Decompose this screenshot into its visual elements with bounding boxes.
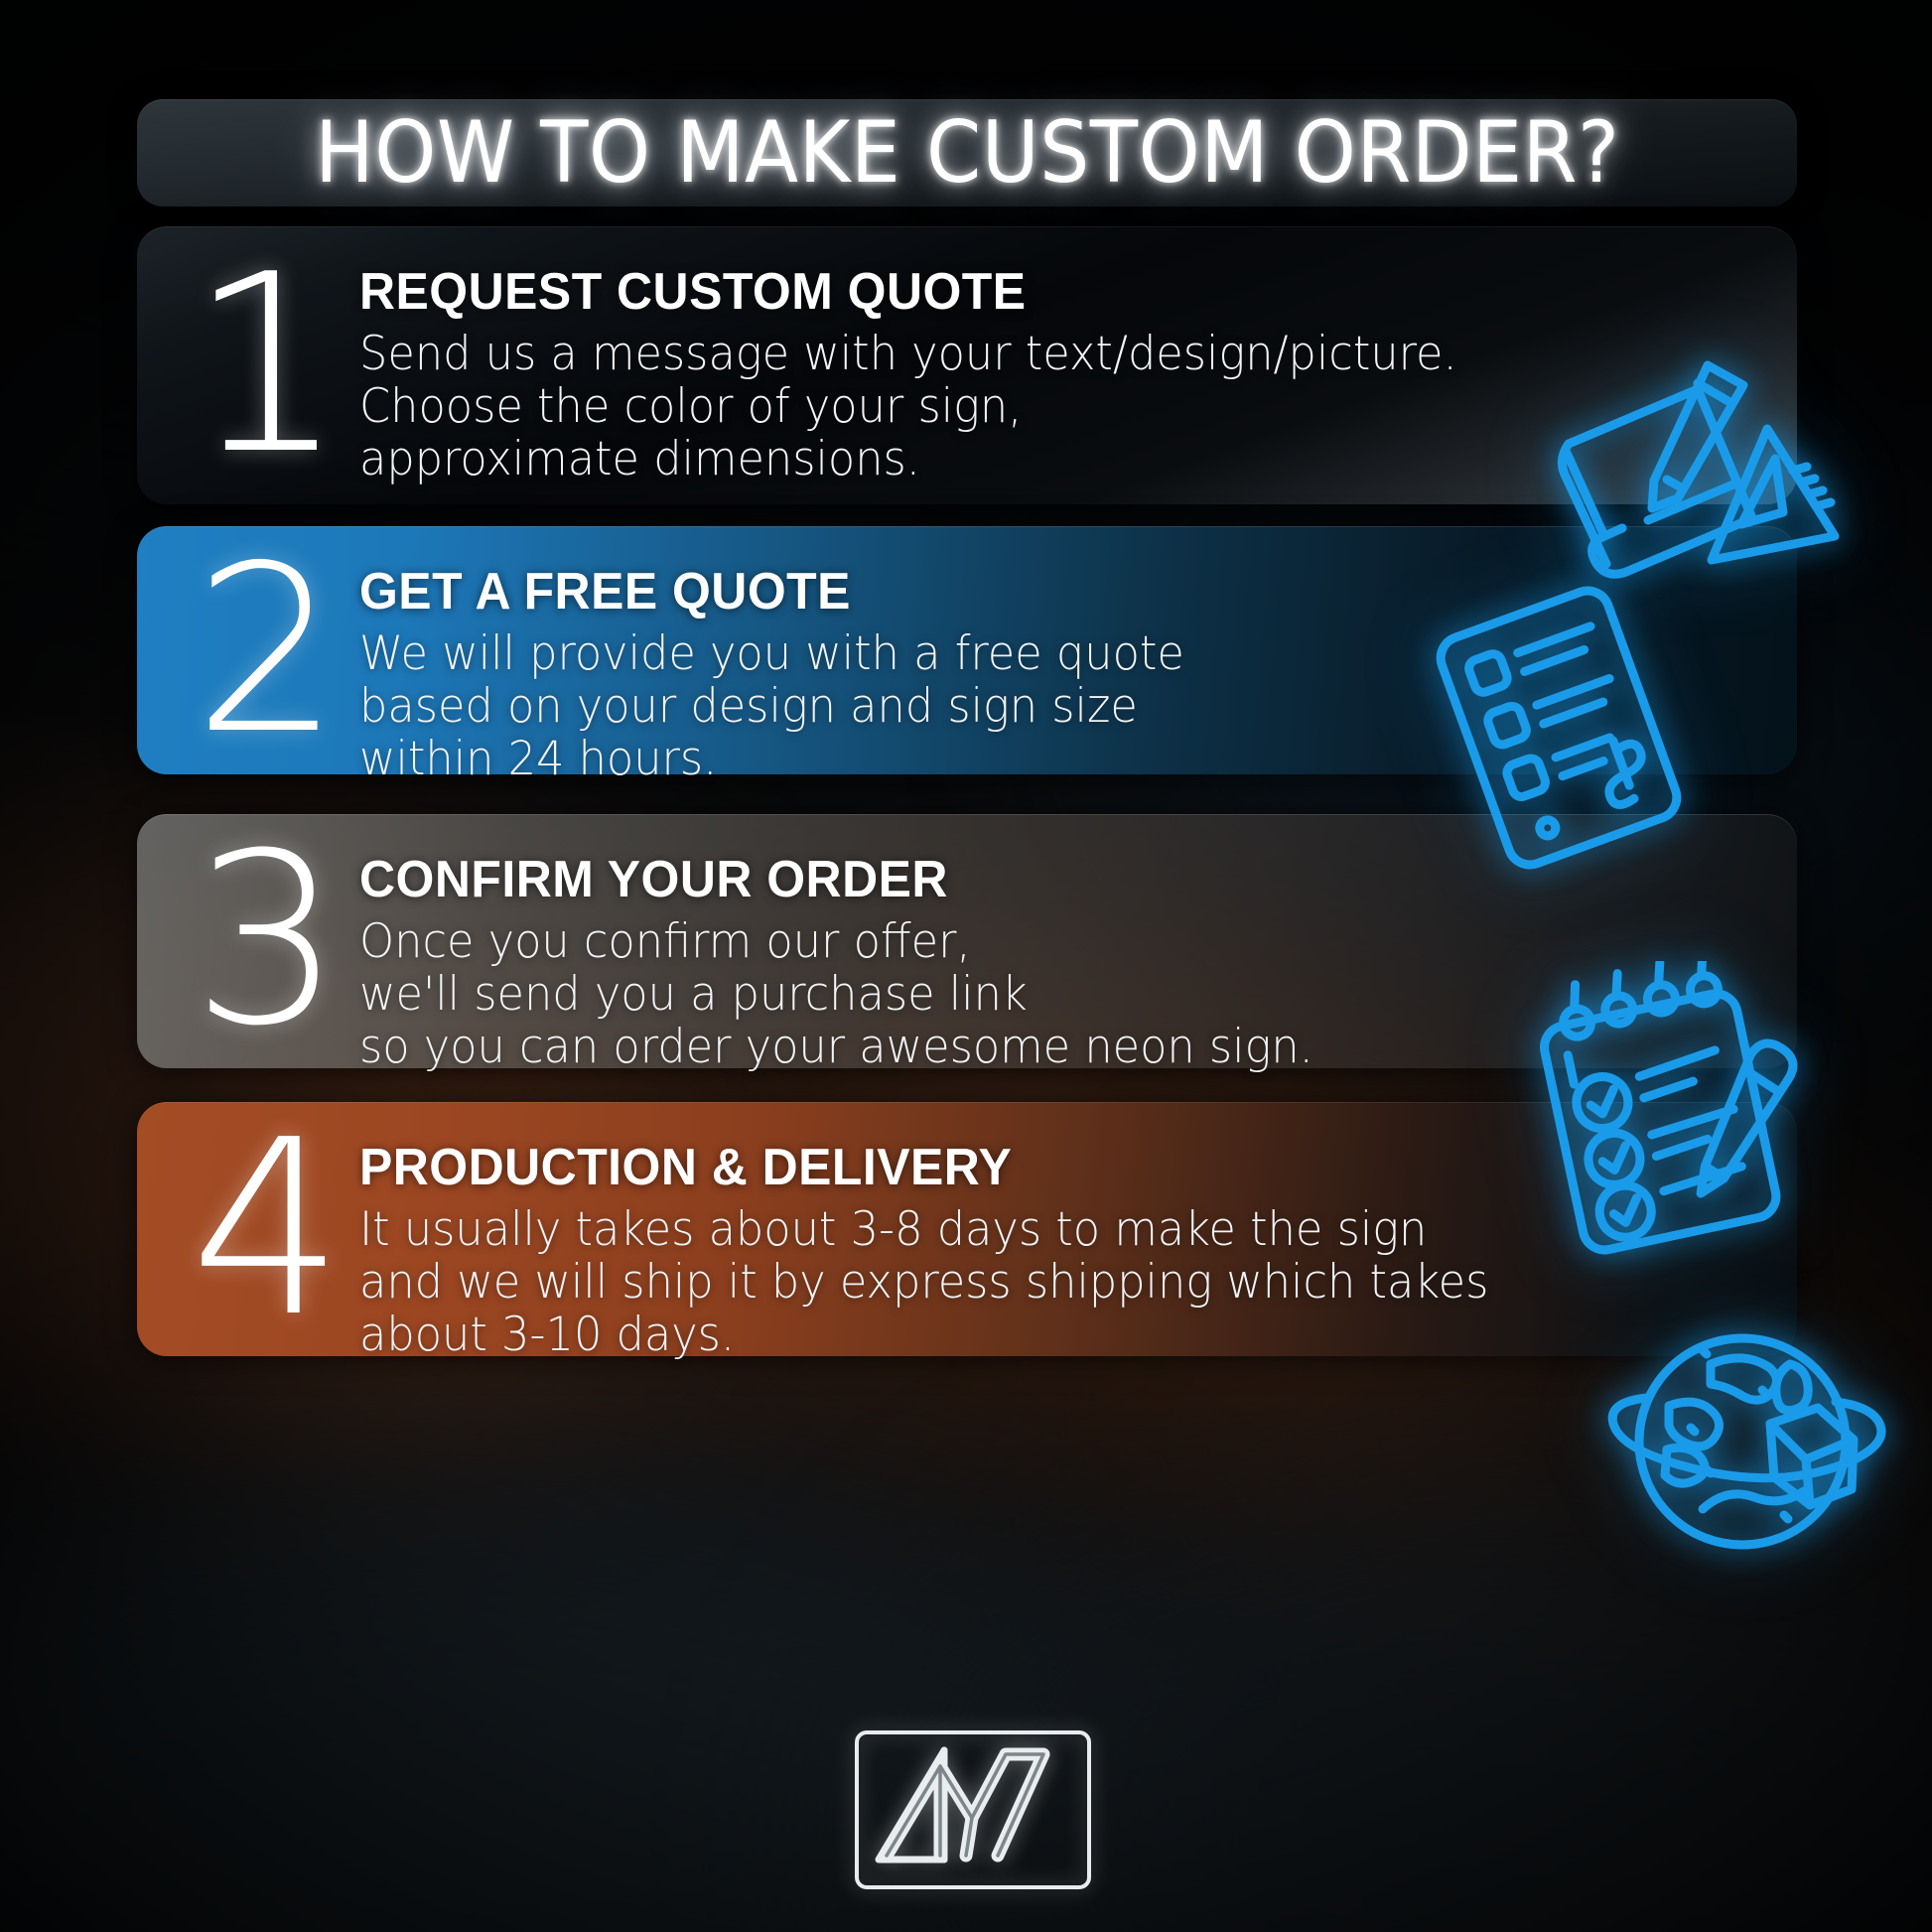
step-description-3: Once you confirm our offer, we'll send y… (359, 915, 1688, 1073)
blueprint-pencil-ruler-icon (1549, 349, 1847, 598)
step-number-4: 4 (171, 1124, 359, 1334)
page-title: HOW TO MAKE CUSTOM ORDER? (315, 103, 1619, 203)
quote-document-dollar-icon (1415, 584, 1703, 872)
step-title-4: PRODUCTION & DELIVERY (359, 1138, 1702, 1197)
infographic-canvas: HOW TO MAKE CUSTOM ORDER? 1 REQUEST CUST… (0, 0, 1932, 1932)
step-number-3: 3 (171, 836, 359, 1046)
step-title-1: REQUEST CUSTOM QUOTE (359, 262, 1702, 322)
neon-w-logo (849, 1721, 1097, 1899)
checklist-notepad-pencil-icon (1524, 961, 1822, 1259)
step-description-1: Send us a message with your text/design/… (359, 328, 1688, 485)
header-bar: HOW TO MAKE CUSTOM ORDER? (137, 99, 1797, 207)
step-description-4: It usually takes about 3-8 days to make … (359, 1203, 1688, 1361)
step-number-2: 2 (171, 548, 359, 753)
globe-shipping-box-icon (1603, 1320, 1891, 1569)
step-number-1: 1 (171, 248, 359, 483)
